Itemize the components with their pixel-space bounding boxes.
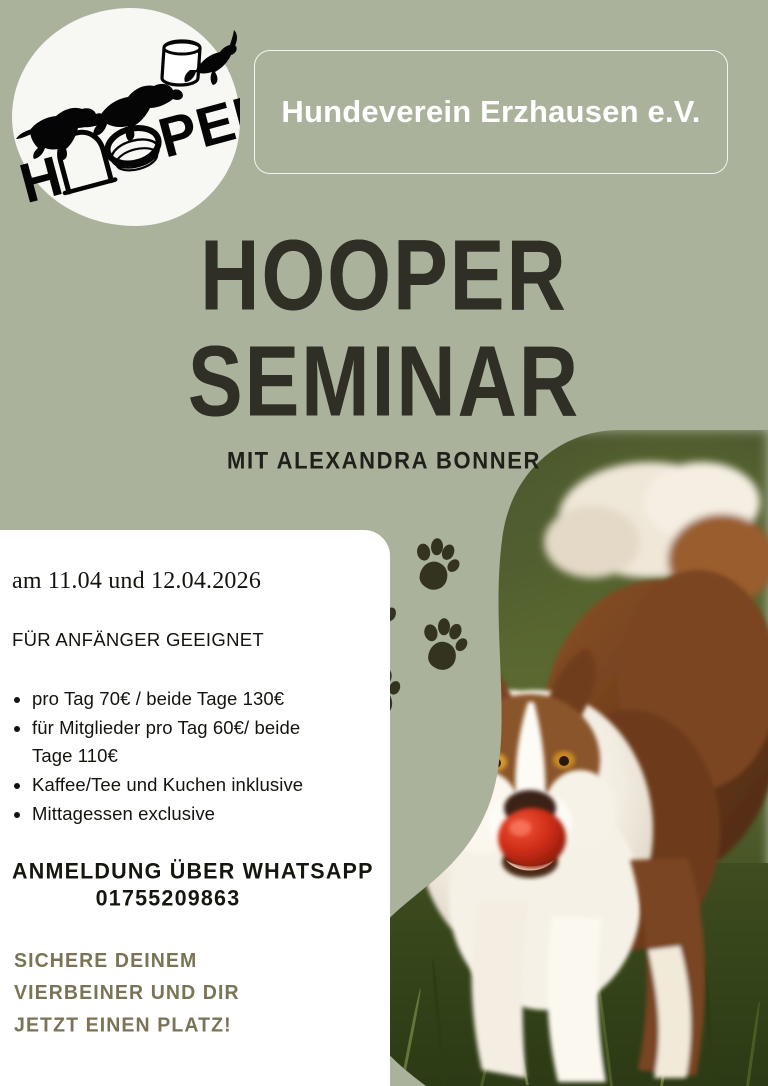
poster-title: HOOPER SEMINAR	[0, 228, 768, 413]
list-item: Mittagessen exclusive	[32, 800, 342, 828]
price-list: pro Tag 70€ / beide Tage 130€ für Mitgli…	[12, 685, 342, 829]
title-line-1: HOOPER	[0, 228, 768, 325]
list-item: pro Tag 70€ / beide Tage 130€	[32, 685, 342, 713]
poster-subtitle: MIT ALEXANDRA BONNER	[0, 447, 768, 475]
poster-canvas: H PERS Hundeverein Erzhausen e.V. HOOPER	[0, 0, 768, 1086]
whatsapp-contact[interactable]: ANMELDUNG ÜBER WHATSAPP 01755209863	[12, 859, 324, 911]
club-name-box: Hundeverein Erzhausen e.V.	[254, 50, 728, 174]
seminar-date: am 11.04 und 12.04.2026	[12, 568, 342, 595]
call-to-action: SICHERE DEINEM VIERBEINER UND DIR JETZT …	[14, 945, 244, 1041]
hoopers-logo: H PERS	[12, 8, 240, 226]
tire-ring-icon	[104, 123, 165, 176]
list-item: für Mitglieder pro Tag 60€/ beide Tage 1…	[32, 714, 342, 770]
list-item: Kaffee/Tee und Kuchen inklusive	[32, 771, 342, 799]
border-collie-illustration	[330, 430, 768, 1086]
whatsapp-number[interactable]: 01755209863	[12, 885, 324, 911]
paw-print-icon	[416, 615, 472, 678]
club-name-label: Hundeverein Erzhausen e.V.	[281, 94, 700, 130]
dog-photo	[330, 430, 768, 1086]
level-note: FÜR ANFÄNGER GEEIGNET	[12, 629, 342, 651]
whatsapp-label: ANMELDUNG ÜBER WHATSAPP	[12, 858, 324, 884]
red-ball	[498, 808, 566, 868]
title-line-2: SEMINAR	[0, 334, 768, 431]
barrel-icon	[162, 41, 200, 85]
paw-print-icon	[407, 534, 466, 599]
